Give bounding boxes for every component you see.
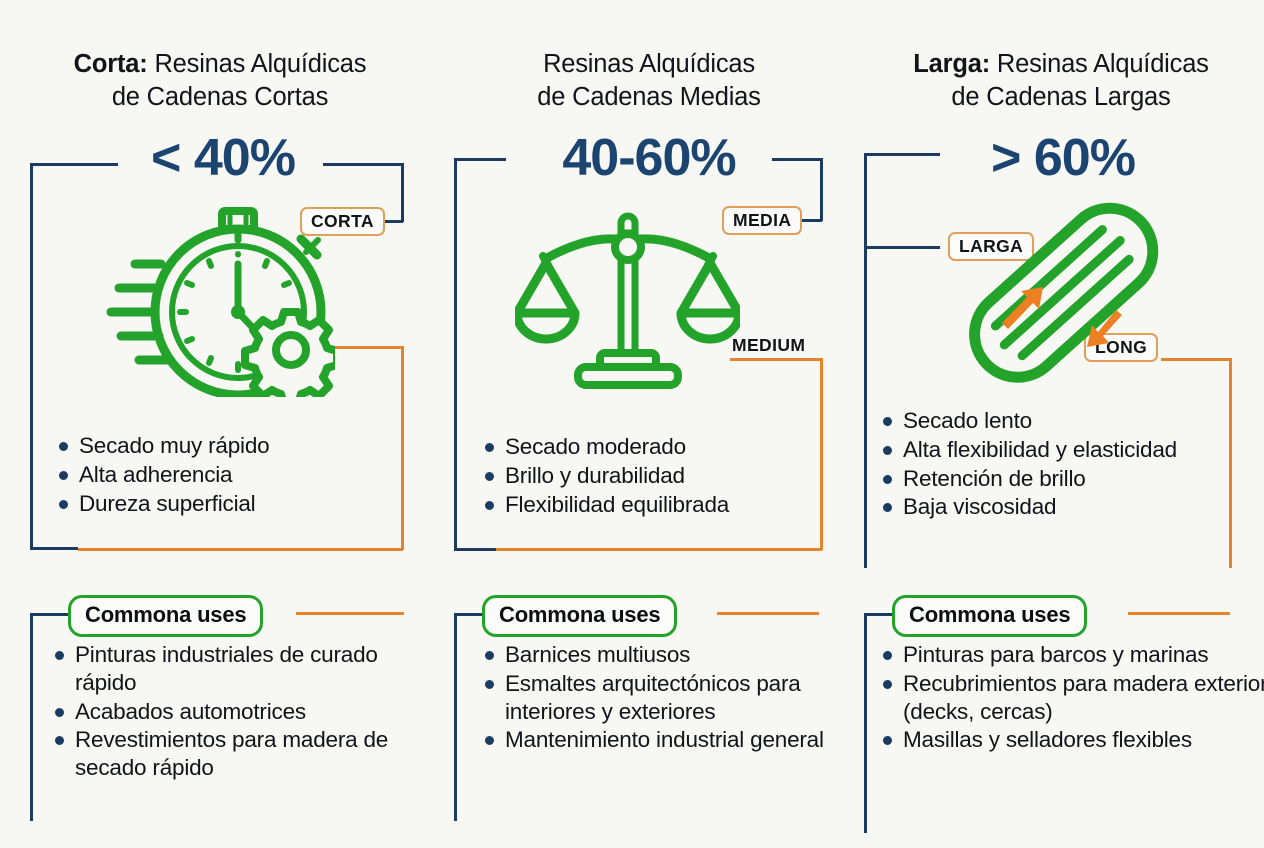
list-item: Dureza superficial: [58, 490, 398, 518]
list-item: Masillas y selladores flexibles: [882, 726, 1264, 754]
column-larga: Larga: Resinas Alquídicas de Cadenas Lar…: [858, 0, 1264, 848]
column-1-percent: < 40%: [0, 132, 440, 184]
column-corta: Corta: Resinas Alquídicas de Cadenas Cor…: [0, 0, 440, 848]
navy-uses-left-rule-2: [454, 613, 457, 821]
list-item: Baja viscosidad: [882, 493, 1227, 521]
navy-top-left-rule-1: [30, 163, 118, 166]
column-2-heading-line2: de Cadenas Medias: [537, 83, 760, 111]
orange-bottom-rule-1: [78, 548, 403, 551]
navy-top-right-rule-1: [323, 163, 403, 166]
column-3-heading-rest: Resinas Alquídicas: [990, 50, 1209, 78]
column-1-heading-strong: Corta:: [74, 50, 148, 78]
list-item: Revestimientos para madera de secado ráp…: [54, 726, 404, 782]
long-chain-strand-icon: [938, 192, 1188, 392]
list-item: Secado muy rápido: [58, 432, 398, 460]
list-item: Secado moderado: [484, 433, 834, 461]
balance-scale-icon: [515, 195, 740, 395]
list-item: Retención de brillo: [882, 465, 1227, 493]
uses-title-pill-2: Commona uses: [482, 595, 677, 637]
uses-title-pill-1: Commona uses: [68, 595, 263, 637]
orange-uses-rule-1: [296, 612, 404, 615]
navy-right-drop-1: [401, 163, 404, 222]
navy-top-left-rule-2: [454, 158, 506, 161]
navy-larga-connector-3: [864, 246, 940, 249]
list-item: Recubrimientos para madera exterior (dec…: [882, 670, 1264, 726]
column-3-heading-line2: de Cadenas Largas: [951, 83, 1170, 111]
navy-top-right-rule-2: [772, 158, 822, 161]
column-1-heading-line2: de Cadenas Cortas: [112, 83, 328, 111]
orange-uses-rule-2: [717, 612, 819, 615]
column-media: Resinas Alquídicas de Cadenas Medias 40-…: [440, 0, 858, 848]
list-item: Pinturas para barcos y marinas: [882, 641, 1264, 669]
column-2-uses-list: Barnices multiusos Esmaltes arquitectóni…: [484, 641, 844, 755]
column-1-heading-rest: Resinas Alquídicas: [148, 50, 367, 78]
column-3-properties-list: Secado lento Alta flexibilidad y elastic…: [882, 407, 1227, 522]
list-item: Pinturas industriales de curado rápido: [54, 641, 404, 697]
column-3-heading: Larga: Resinas Alquídicas de Cadenas Lar…: [858, 48, 1264, 113]
column-1-uses-list: Pinturas industriales de curado rápido A…: [54, 641, 404, 783]
navy-left-rule-2: [454, 158, 457, 551]
orange-top-rule-2: [730, 358, 822, 361]
label-medium: MEDIUM: [732, 335, 805, 356]
column-1-heading: Corta: Resinas Alquídicas de Cadenas Cor…: [0, 48, 440, 113]
navy-uses-left-rule-1: [30, 613, 33, 821]
list-item: Barnices multiusos: [484, 641, 844, 669]
list-item: Alta flexibilidad y elasticidad: [882, 436, 1227, 464]
column-3-percent: > 60%: [858, 132, 1264, 184]
column-2-properties-list: Secado moderado Brillo y durabilidad Fle…: [484, 433, 834, 519]
alkyd-resin-oil-length-infographic: Corta: Resinas Alquídicas de Cadenas Cor…: [0, 0, 1264, 848]
orange-uses-rule-3: [1128, 612, 1230, 615]
list-item: Alta adherencia: [58, 461, 398, 489]
list-item: Acabados automotrices: [54, 698, 404, 726]
navy-top-left-rule-3: [864, 153, 940, 156]
orange-bottom-rule-2: [496, 548, 822, 551]
stopwatch-gear-icon: [105, 192, 335, 397]
column-3-heading-strong: Larga:: [913, 50, 990, 78]
column-2-heading-rest: Resinas Alquídicas: [543, 50, 755, 78]
column-2-heading: Resinas Alquídicas de Cadenas Medias: [440, 48, 858, 113]
navy-uses-left-rule-3: [864, 613, 867, 833]
navy-left-rule-1: [30, 163, 33, 549]
column-1-properties-list: Secado muy rápido Alta adherencia Dureza…: [58, 432, 398, 518]
list-item: Mantenimiento industrial general: [484, 726, 844, 754]
navy-uses-connector-1: [30, 613, 72, 616]
column-3-uses-list: Pinturas para barcos y marinas Recubrimi…: [882, 641, 1264, 755]
orange-right-rule-3: [1229, 358, 1232, 568]
navy-bottom-stub-1: [30, 547, 78, 550]
list-item: Brillo y durabilidad: [484, 462, 834, 490]
uses-title-pill-3: Commona uses: [892, 595, 1087, 637]
list-item: Flexibilidad equilibrada: [484, 491, 834, 519]
orange-top-rule-1: [330, 346, 403, 349]
navy-bottom-stub-2: [454, 548, 496, 551]
orange-right-rule-1: [401, 346, 404, 550]
list-item: Secado lento: [882, 407, 1227, 435]
navy-right-drop-2: [820, 158, 823, 221]
list-item: Esmaltes arquitectónicos para interiores…: [484, 670, 844, 726]
navy-left-rule-3: [864, 153, 867, 568]
